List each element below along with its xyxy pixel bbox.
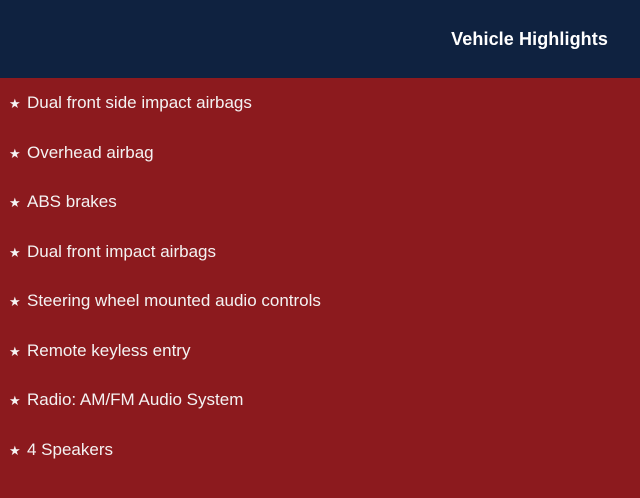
list-item: ★ Dual front impact airbags [9,241,620,291]
list-item-label: ABS brakes [27,191,117,213]
star-icon: ★ [9,341,27,363]
list-item-label: Radio: AM/FM Audio System [27,389,243,411]
list-item: ★ Radio: AM/FM Audio System [9,389,620,439]
list-item: ★ Remote keyless entry [9,340,620,390]
star-icon: ★ [9,291,27,313]
page-title: Vehicle Highlights [451,30,608,48]
list-item: ★ Dual front side impact airbags [9,92,620,142]
vehicle-highlights-screen: Vehicle Highlights ★ Dual front side imp… [0,0,640,480]
header-bar: Vehicle Highlights [0,0,640,78]
list-item-label: Dual front impact airbags [27,241,216,263]
star-icon: ★ [9,93,27,115]
star-icon: ★ [9,242,27,264]
star-icon: ★ [9,192,27,214]
vehicle-highlights-list: ★ Dual front side impact airbags ★ Overh… [9,92,620,488]
list-item-label: 4 Speakers [27,439,113,461]
list-item-label: Overhead airbag [27,142,154,164]
list-item: ★ Steering wheel mounted audio controls [9,290,620,340]
list-item-label: Dual front side impact airbags [27,92,252,114]
star-icon: ★ [9,390,27,412]
list-item: ★ 4 Speakers [9,439,620,489]
list-item: ★ ABS brakes [9,191,620,241]
list-item-label: Remote keyless entry [27,340,190,362]
star-icon: ★ [9,440,27,462]
list-item-label: Steering wheel mounted audio controls [27,290,321,312]
highlights-panel: ★ Dual front side impact airbags ★ Overh… [0,78,640,498]
star-icon: ★ [9,143,27,165]
list-item: ★ Overhead airbag [9,142,620,192]
